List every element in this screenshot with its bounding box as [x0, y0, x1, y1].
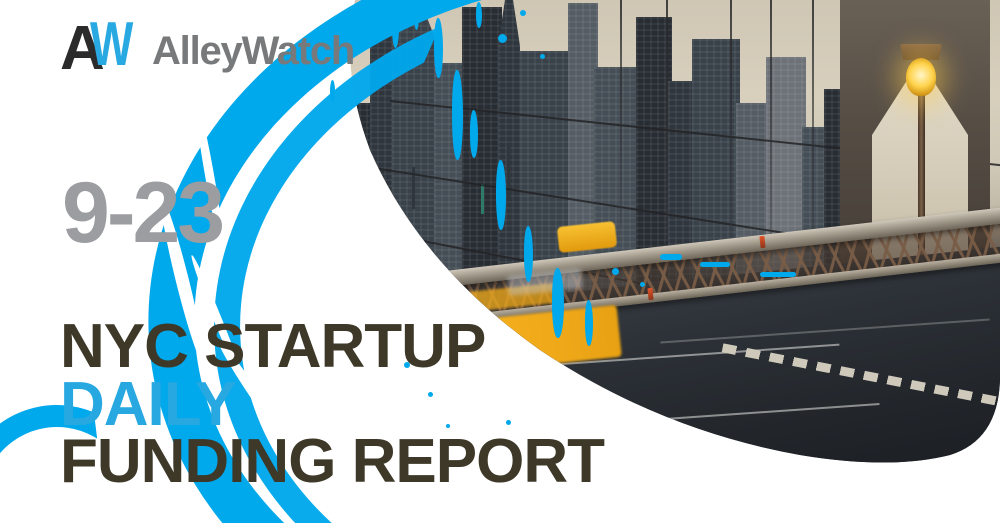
building-spire: [481, 184, 484, 214]
logo-letter-w: W: [90, 16, 131, 74]
paint-splatter: [498, 34, 507, 43]
report-date: 9-23: [62, 170, 222, 256]
paint-splatter: [330, 80, 335, 102]
paint-splatter: [476, 2, 482, 28]
headline: NYC STARTUP DAILY FUNDING REPORT: [60, 318, 604, 491]
paint-splatter: [524, 226, 533, 282]
paint-splatter: [452, 70, 463, 160]
paint-splatter: [640, 282, 645, 287]
banner-canvas: A W AlleyWatch 9-23 NYC STARTUP DAILY FU…: [0, 0, 1000, 523]
paint-splatter: [760, 272, 796, 277]
paint-splatter: [496, 160, 506, 230]
bridge-vertical-cable: [812, 0, 814, 266]
street-lamp-light: [906, 58, 936, 96]
building-spire: [507, 145, 510, 199]
paint-splatter: [520, 10, 526, 16]
paint-splatter: [356, 26, 360, 30]
alleywatch-logo[interactable]: A W AlleyWatch: [60, 20, 354, 82]
paint-splatter: [540, 54, 545, 59]
bridge-vertical-cable: [770, 0, 772, 258]
paint-splatter: [612, 268, 619, 275]
paint-splatter: [392, 6, 399, 48]
headline-line-3: FUNDING REPORT: [60, 433, 604, 491]
headline-line-2: DAILY: [60, 376, 604, 434]
brush-bristle-gap: [664, 516, 864, 523]
bridge-vertical-cable: [620, 0, 622, 226]
alleywatch-wordmark: AlleyWatch: [152, 31, 354, 71]
paint-splatter: [700, 262, 730, 267]
paint-splatter: [414, 0, 419, 30]
paint-splatter: [660, 254, 682, 260]
paint-splatter: [434, 18, 443, 78]
headline-line-1: NYC STARTUP: [60, 318, 604, 376]
brush-bristle-gap: [780, 459, 947, 507]
paint-splatter: [470, 110, 478, 158]
alleywatch-logo-mark: A W: [60, 22, 146, 80]
bridge-vertical-cable: [666, 0, 668, 238]
bridge-vertical-cable: [730, 0, 732, 250]
